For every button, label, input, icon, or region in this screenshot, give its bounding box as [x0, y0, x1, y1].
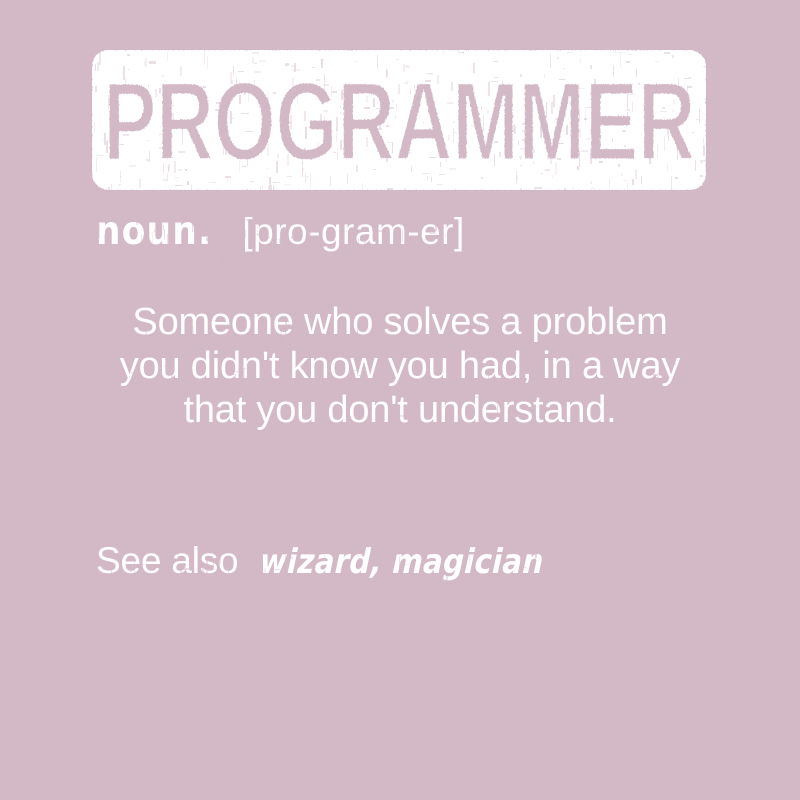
title-artwork: PROGRAMMER PROGRAMMER [92, 50, 706, 190]
definition-line-1: Someone who solves a problem [50, 300, 750, 344]
phonetic-pronunciation: [pro-gram-er] [242, 213, 464, 250]
part-of-speech: noun. [96, 212, 213, 251]
poster-canvas: PROGRAMMER PROGRAMMER noun. [pro-gram-er… [0, 0, 800, 800]
definition-text: Someone who solves a problem you didn't … [50, 300, 750, 432]
pronunciation-row: noun. [pro-gram-er] [96, 212, 465, 251]
svg-text:PROGRAMMER: PROGRAMMER [103, 59, 695, 184]
see-also-terms: wizard, magician [260, 545, 545, 579]
definition-line-3: that you don't understand. [50, 388, 750, 432]
definition-line-2: you didn't know you had, in a way [50, 344, 750, 388]
see-also-label: See also [96, 542, 238, 579]
title-frame: PROGRAMMER PROGRAMMER [92, 50, 706, 190]
see-also-row: See also wizard, magician [96, 542, 590, 579]
